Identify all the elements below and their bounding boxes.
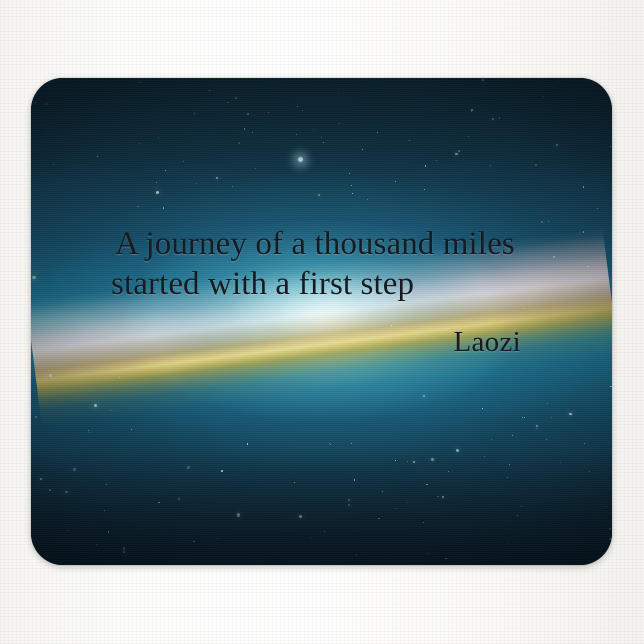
quote-line-2: started with a first step (111, 264, 565, 304)
mousepad-product[interactable]: A journey of a thousand miles started wi… (31, 78, 612, 565)
quote-line-1: A journey of a thousand miles (115, 224, 565, 264)
quote-attribution: Laozi (115, 326, 565, 358)
quote-block: A journey of a thousand miles started wi… (115, 224, 565, 358)
